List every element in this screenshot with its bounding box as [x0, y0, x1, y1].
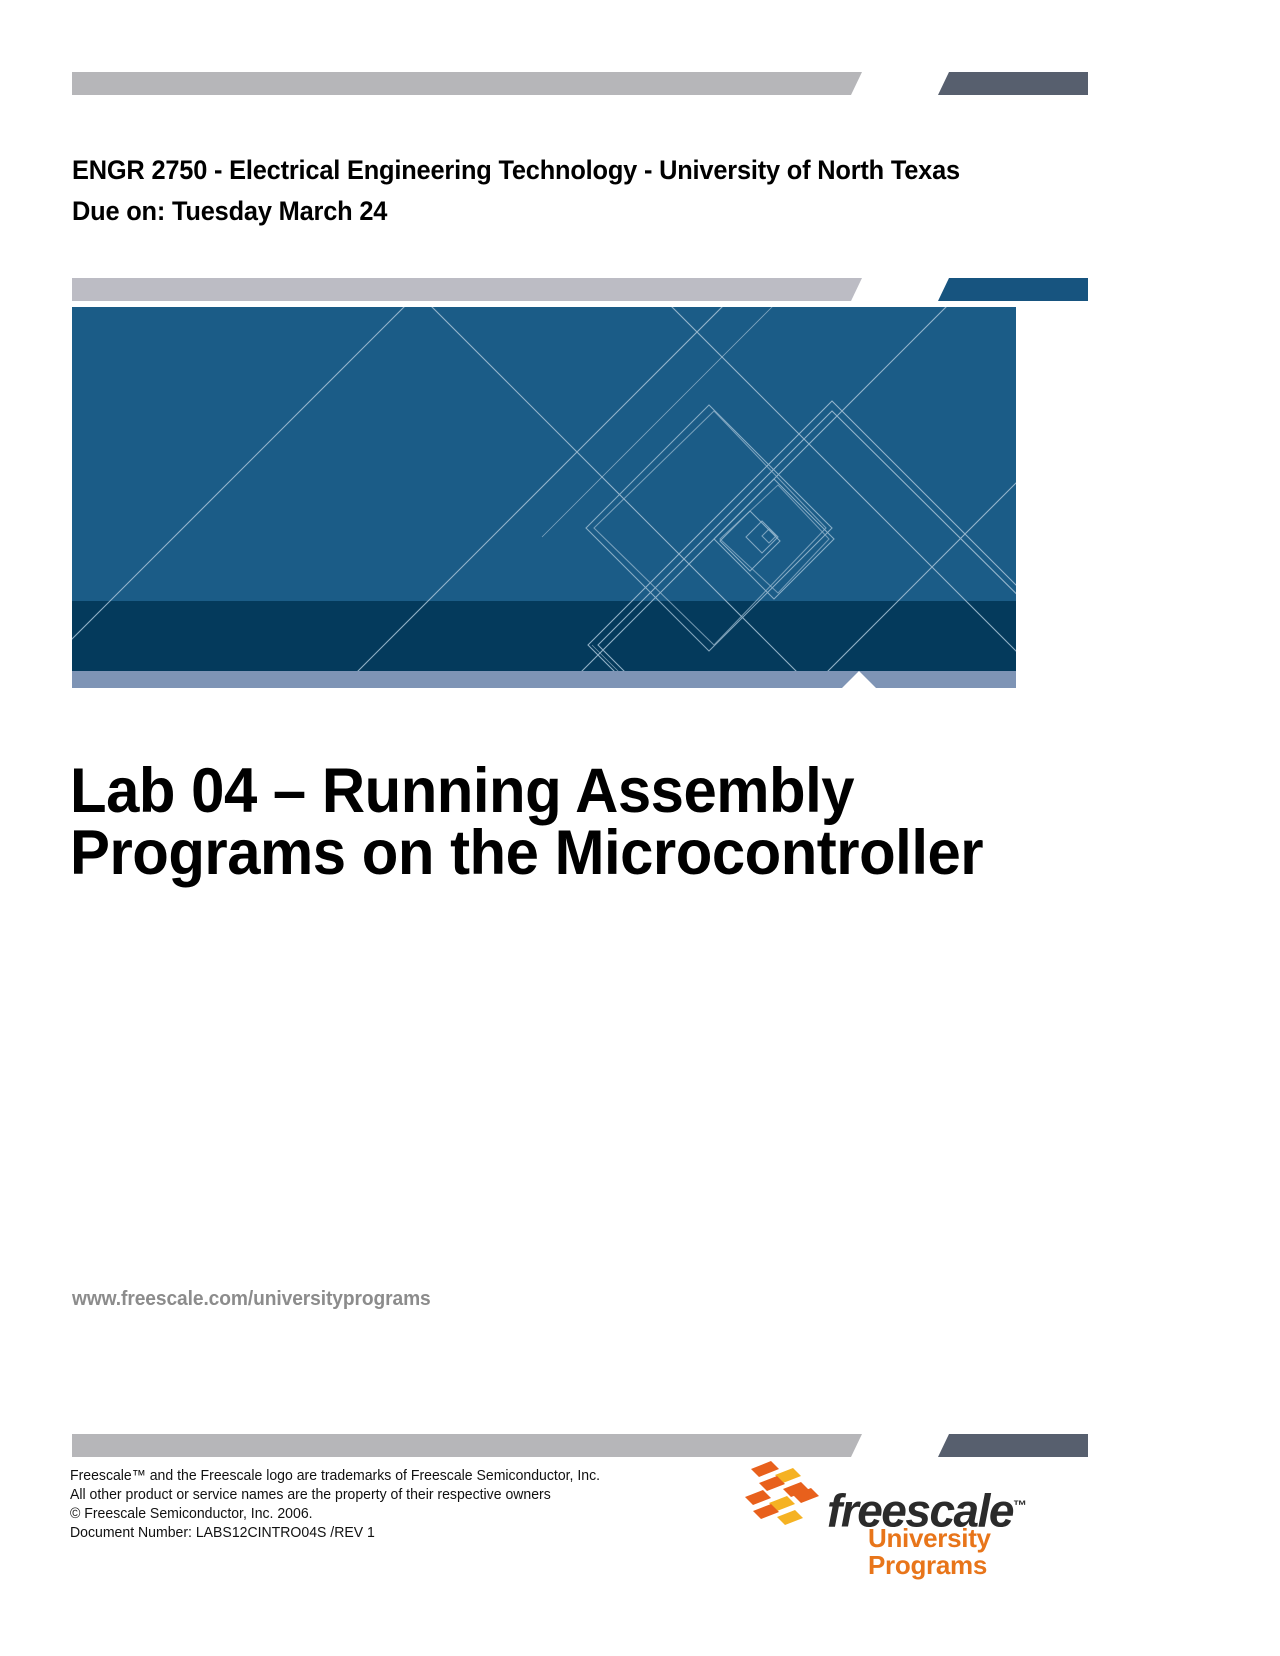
hero-rule-dark-segment	[938, 278, 1088, 301]
freescale-logo-mark-icon	[735, 1455, 821, 1533]
footer-legal-line-4: Document Number: LABS12CINTRO04S /REV 1	[70, 1524, 671, 1543]
logo-subtitle: University Programs	[868, 1525, 991, 1579]
top-rule-bar	[72, 72, 1016, 95]
footer-legal-line-3: © Freescale Semiconductor, Inc. 2006.	[70, 1505, 671, 1524]
footer-rule-light-segment	[72, 1434, 862, 1457]
header-block: ENGR 2750 - Electrical Engineering Techn…	[72, 150, 1132, 232]
hero-bottom-bar-notch	[842, 671, 876, 688]
document-page: ENGR 2750 - Electrical Engineering Techn…	[0, 0, 1280, 1656]
footer-legal-line-2: All other product or service names are t…	[70, 1486, 671, 1505]
course-title-line: ENGR 2750 - Electrical Engineering Techn…	[72, 150, 1068, 191]
hero-rule-light-segment	[72, 278, 862, 301]
top-rule-light-segment	[72, 72, 862, 95]
footer-legal-block: Freescale™ and the Freescale logo are tr…	[70, 1467, 690, 1543]
footer-rule-bar	[72, 1434, 1016, 1457]
hero-bottom-bar	[72, 671, 1016, 688]
logo-row: freescale™	[735, 1455, 1027, 1533]
freescale-logo: freescale™ University Programs	[735, 1455, 1025, 1575]
due-date-line: Due on: Tuesday March 24	[72, 191, 1068, 232]
top-rule-dark-segment	[938, 72, 1088, 95]
hero-line-pattern	[72, 307, 1016, 671]
page-title: Lab 04 – Running Assembly Programs on th…	[70, 760, 1106, 884]
footer-rule-dark-segment	[938, 1434, 1088, 1457]
hero-blueprint-graphic	[72, 307, 1016, 671]
footer-legal-line-1: Freescale™ and the Freescale logo are tr…	[70, 1467, 671, 1486]
logo-subtitle-line-2: Programs	[868, 1552, 991, 1579]
hero-top-rule-bar	[72, 278, 1016, 301]
logo-subtitle-line-1: University	[868, 1525, 991, 1552]
trademark-icon: ™	[1013, 1497, 1027, 1513]
freescale-url[interactable]: www.freescale.com/universityprograms	[72, 1288, 431, 1311]
